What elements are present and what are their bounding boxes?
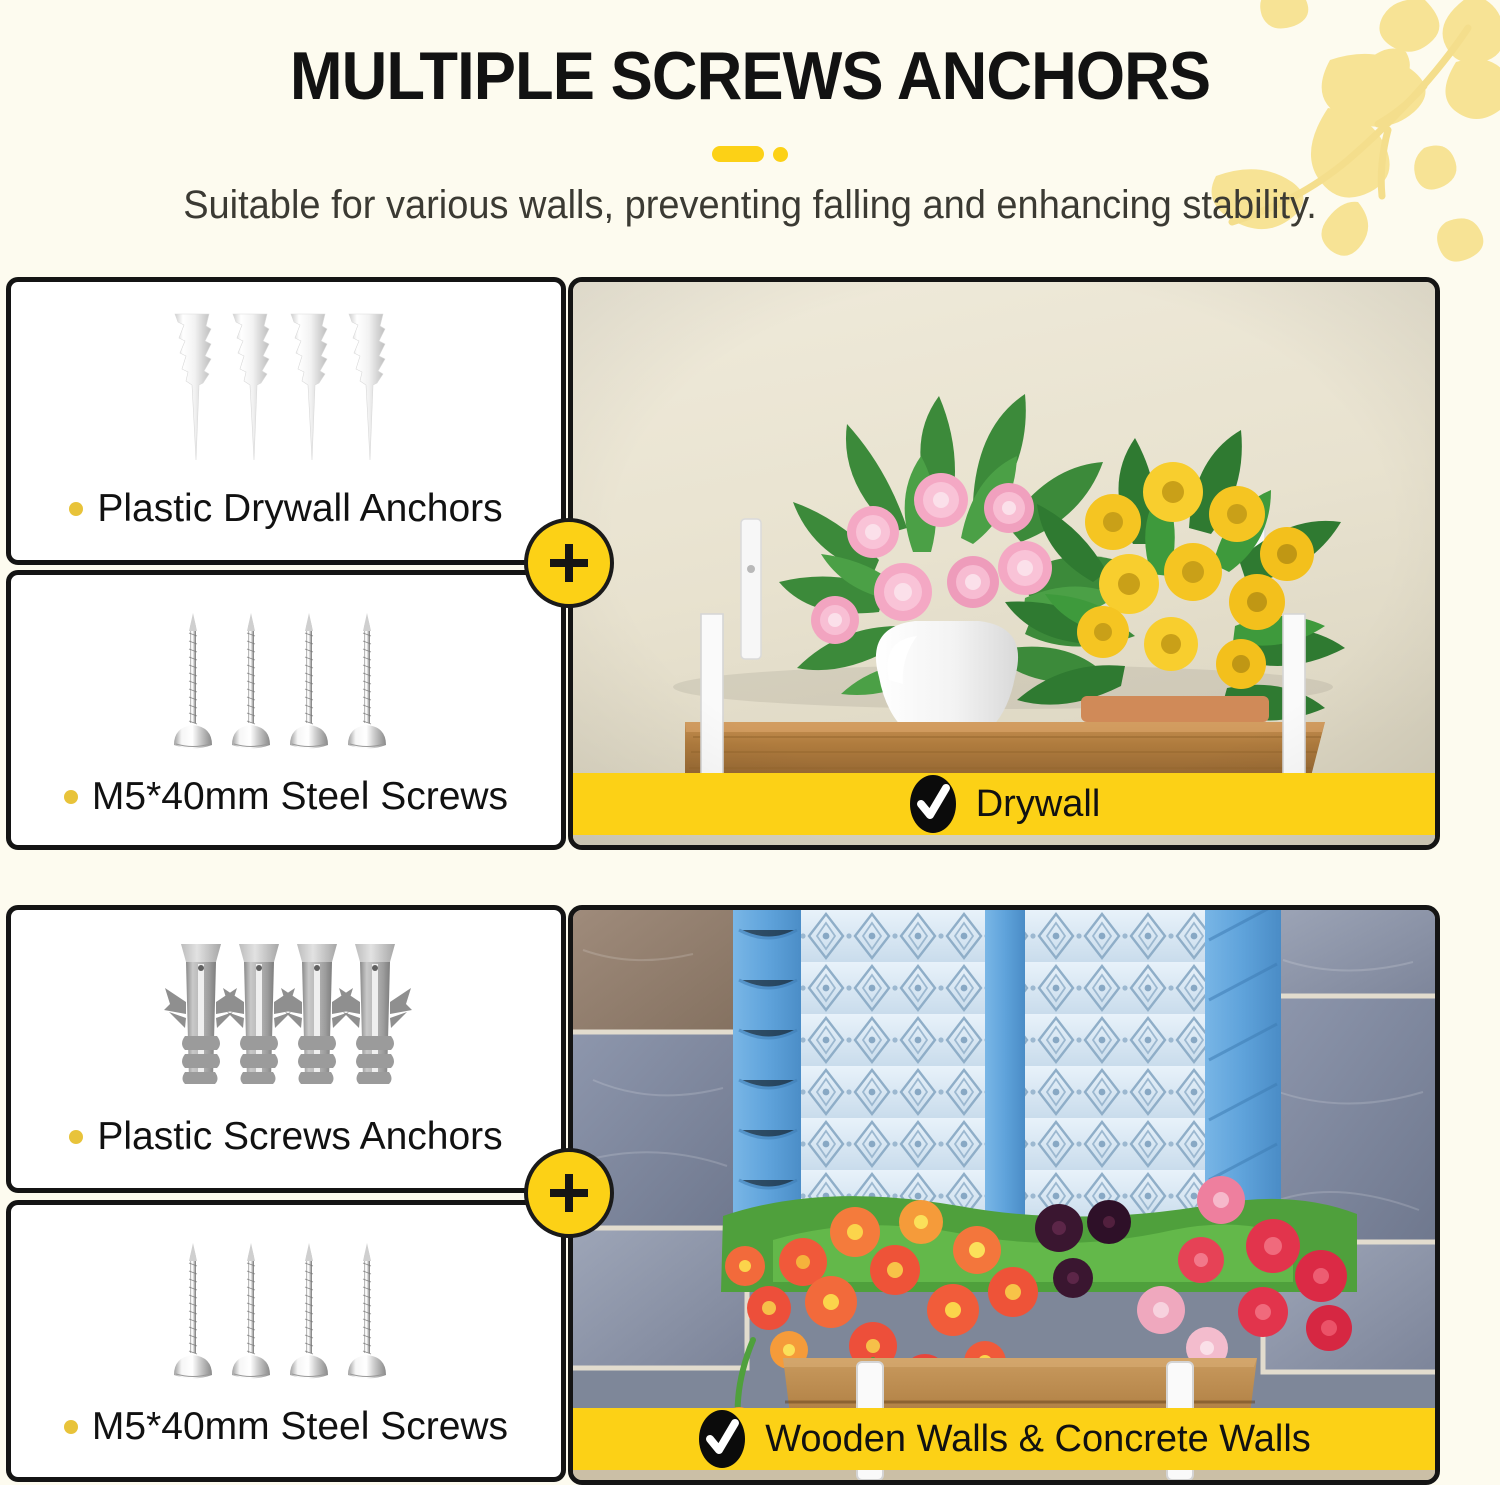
- photo-drywall-shelf: Drywall: [568, 277, 1440, 850]
- card-label-row: M5*40mm Steel Screws: [11, 1405, 561, 1449]
- divider-dot: [773, 147, 788, 162]
- card-label-text: M5*40mm Steel Screws: [92, 1405, 508, 1449]
- card-label-row: Plastic Screws Anchors: [11, 1115, 561, 1159]
- card-label-text: Plastic Screws Anchors: [97, 1115, 502, 1159]
- page-title: MULTIPLE SCREWS ANCHORS: [53, 42, 1448, 110]
- card-steel-screws-bottom: M5*40mm Steel Screws: [6, 1200, 566, 1482]
- drywall-anchor-artwork: [11, 308, 561, 468]
- photo-caption-bar-wood-concrete: Wooden Walls & Concrete Walls: [573, 1408, 1435, 1470]
- photo-window-box: Wooden Walls & Concrete Walls: [568, 905, 1440, 1485]
- photo-caption-bar-drywall: Drywall: [573, 773, 1435, 835]
- card-plastic-screws-anchors: Plastic Screws Anchors: [6, 905, 566, 1193]
- card-plastic-drywall-anchors: Plastic Drywall Anchors: [6, 277, 566, 565]
- card-label-row: Plastic Drywall Anchors: [11, 487, 561, 531]
- photo-caption-text: Drywall: [976, 783, 1101, 826]
- page-subtitle: Suitable for various walls, preventing f…: [38, 183, 1463, 228]
- bullet-dot: [64, 790, 78, 804]
- card-label-row: M5*40mm Steel Screws: [11, 775, 561, 819]
- title-divider: [0, 143, 1500, 165]
- expansion-anchor-artwork: [11, 934, 561, 1102]
- plus-icon: [546, 540, 592, 586]
- steel-screw-artwork-bottom: [11, 1233, 561, 1398]
- card-steel-screws-top: M5*40mm Steel Screws: [6, 570, 566, 850]
- check-circle-icon: [697, 1408, 747, 1470]
- card-label-text: Plastic Drywall Anchors: [97, 487, 502, 531]
- plus-icon: [546, 1170, 592, 1216]
- infographic-canvas: MULTIPLE SCREWS ANCHORS Suitable for var…: [0, 0, 1500, 1479]
- bullet-dot: [64, 1420, 78, 1434]
- steel-screw-artwork-top: [11, 603, 561, 768]
- bullet-dot: [69, 1130, 83, 1144]
- divider-pill: [712, 146, 764, 162]
- card-label-text: M5*40mm Steel Screws: [92, 775, 508, 819]
- plus-badge-wood-concrete: [524, 1148, 614, 1238]
- plus-badge-drywall: [524, 518, 614, 608]
- bullet-dot: [69, 502, 83, 516]
- photo-caption-text: Wooden Walls & Concrete Walls: [765, 1418, 1311, 1461]
- check-circle-icon: [908, 773, 958, 835]
